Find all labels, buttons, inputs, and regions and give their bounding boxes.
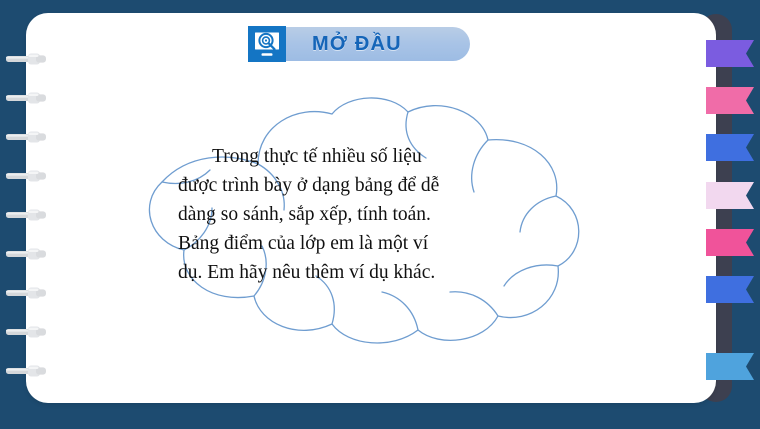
- cloud-text-line: dàng so sánh, sắp xếp, tính toán.: [178, 200, 508, 229]
- cloud-text-line: Trong thực tế nhiều số liệu: [178, 142, 508, 171]
- cloud-text-line: Bảng điểm của lớp em là một ví: [178, 229, 508, 258]
- spiral-ring: [6, 130, 56, 144]
- monitor-magnifier-icon: [248, 26, 286, 62]
- bookmark-tab[interactable]: [706, 182, 754, 209]
- bookmark-tab[interactable]: [706, 134, 754, 161]
- spiral-ring: [6, 169, 56, 183]
- spiral-ring: [6, 325, 56, 339]
- slide-canvas: MỞ ĐẦU Trong thực tế nhiều số liệu được …: [0, 0, 760, 429]
- cloud-text: Trong thực tế nhiều số liệu được trình b…: [178, 142, 508, 287]
- bookmark-tab[interactable]: [706, 229, 754, 256]
- spiral-ring: [6, 286, 56, 300]
- spiral-ring: [6, 52, 56, 66]
- bookmark-tab[interactable]: [706, 40, 754, 67]
- bookmark-tab[interactable]: [706, 276, 754, 303]
- spiral-ring: [6, 91, 56, 105]
- cloud-text-line: được trình bày ở dạng bảng để dễ: [178, 171, 508, 200]
- bookmark-tab[interactable]: [706, 353, 754, 380]
- spiral-ring: [6, 364, 56, 378]
- spiral-ring: [6, 247, 56, 261]
- cloud-text-line: dụ. Em hãy nêu thêm ví dụ khác.: [178, 258, 508, 287]
- section-header-banner: MỞ ĐẦU: [268, 27, 470, 61]
- spiral-ring: [6, 208, 56, 222]
- bookmark-tab[interactable]: [706, 87, 754, 114]
- cloud-callout: Trong thực tế nhiều số liệu được trình b…: [100, 92, 600, 350]
- page-title: MỞ ĐẦU: [312, 33, 402, 56]
